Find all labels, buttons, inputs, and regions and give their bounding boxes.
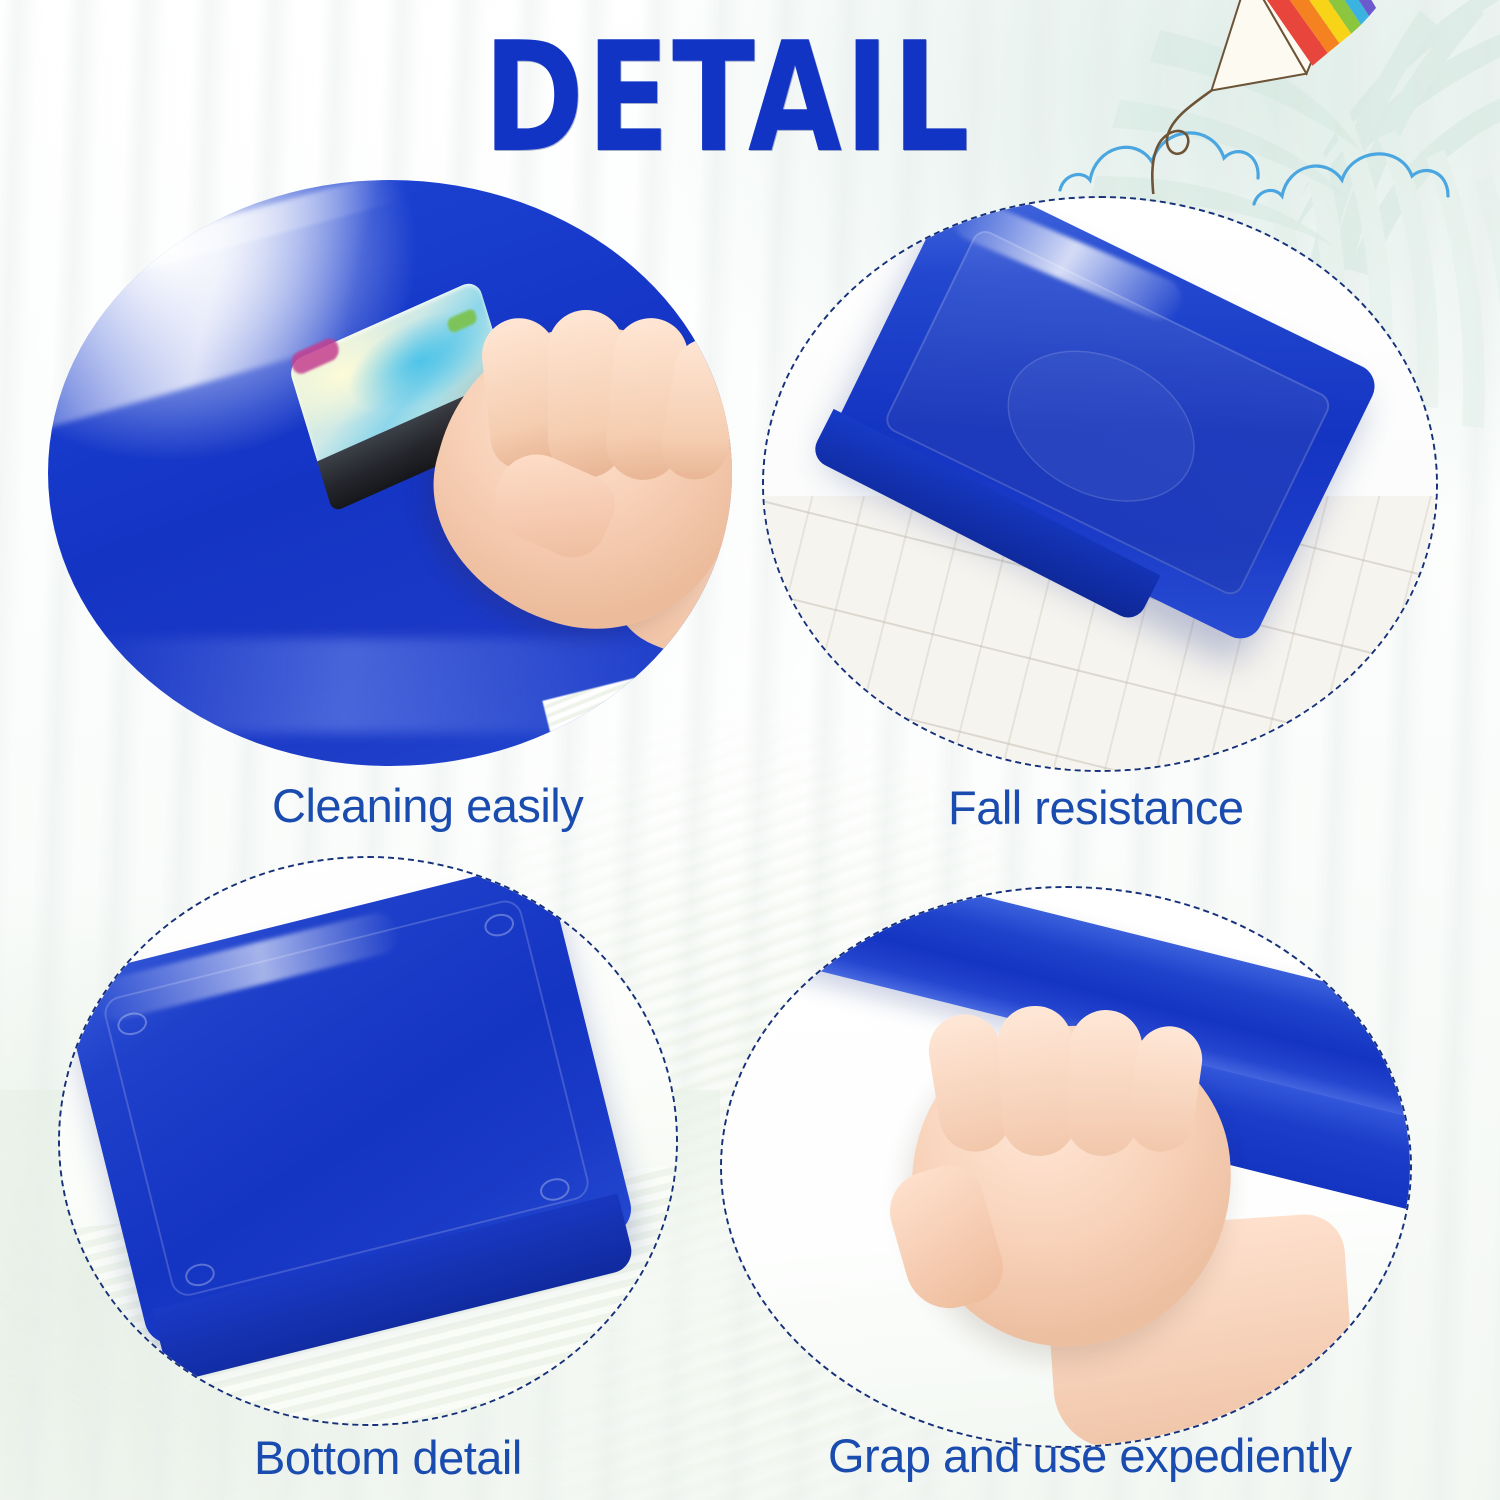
photo-bottom-detail: [58, 856, 678, 1426]
page-title: DETAIL: [128, 22, 1328, 174]
photo-grap-and-use: [720, 886, 1412, 1448]
detail-circle-bottom-detail: [58, 856, 678, 1426]
caption-cleaning-easily: Cleaning easily: [272, 778, 583, 833]
hand-gripping: [882, 972, 1352, 1412]
caption-bottom-detail: Bottom detail: [254, 1430, 522, 1485]
detail-circle-grap-and-use: [720, 886, 1412, 1448]
photo-fall-resistance: [762, 196, 1438, 772]
detail-circle-fall-resistance: [762, 196, 1438, 772]
caption-grap-and-use: Grap and use expediently: [828, 1428, 1352, 1483]
hand-wiping: [376, 266, 734, 686]
tray-upside-down: [59, 859, 636, 1349]
detail-circle-cleaning-easily: [46, 178, 734, 768]
detail-page: DETAIL: [0, 0, 1500, 1500]
caption-fall-resistance: Fall resistance: [948, 780, 1244, 835]
photo-cleaning-easily: [46, 178, 734, 768]
finger: [996, 1004, 1078, 1158]
